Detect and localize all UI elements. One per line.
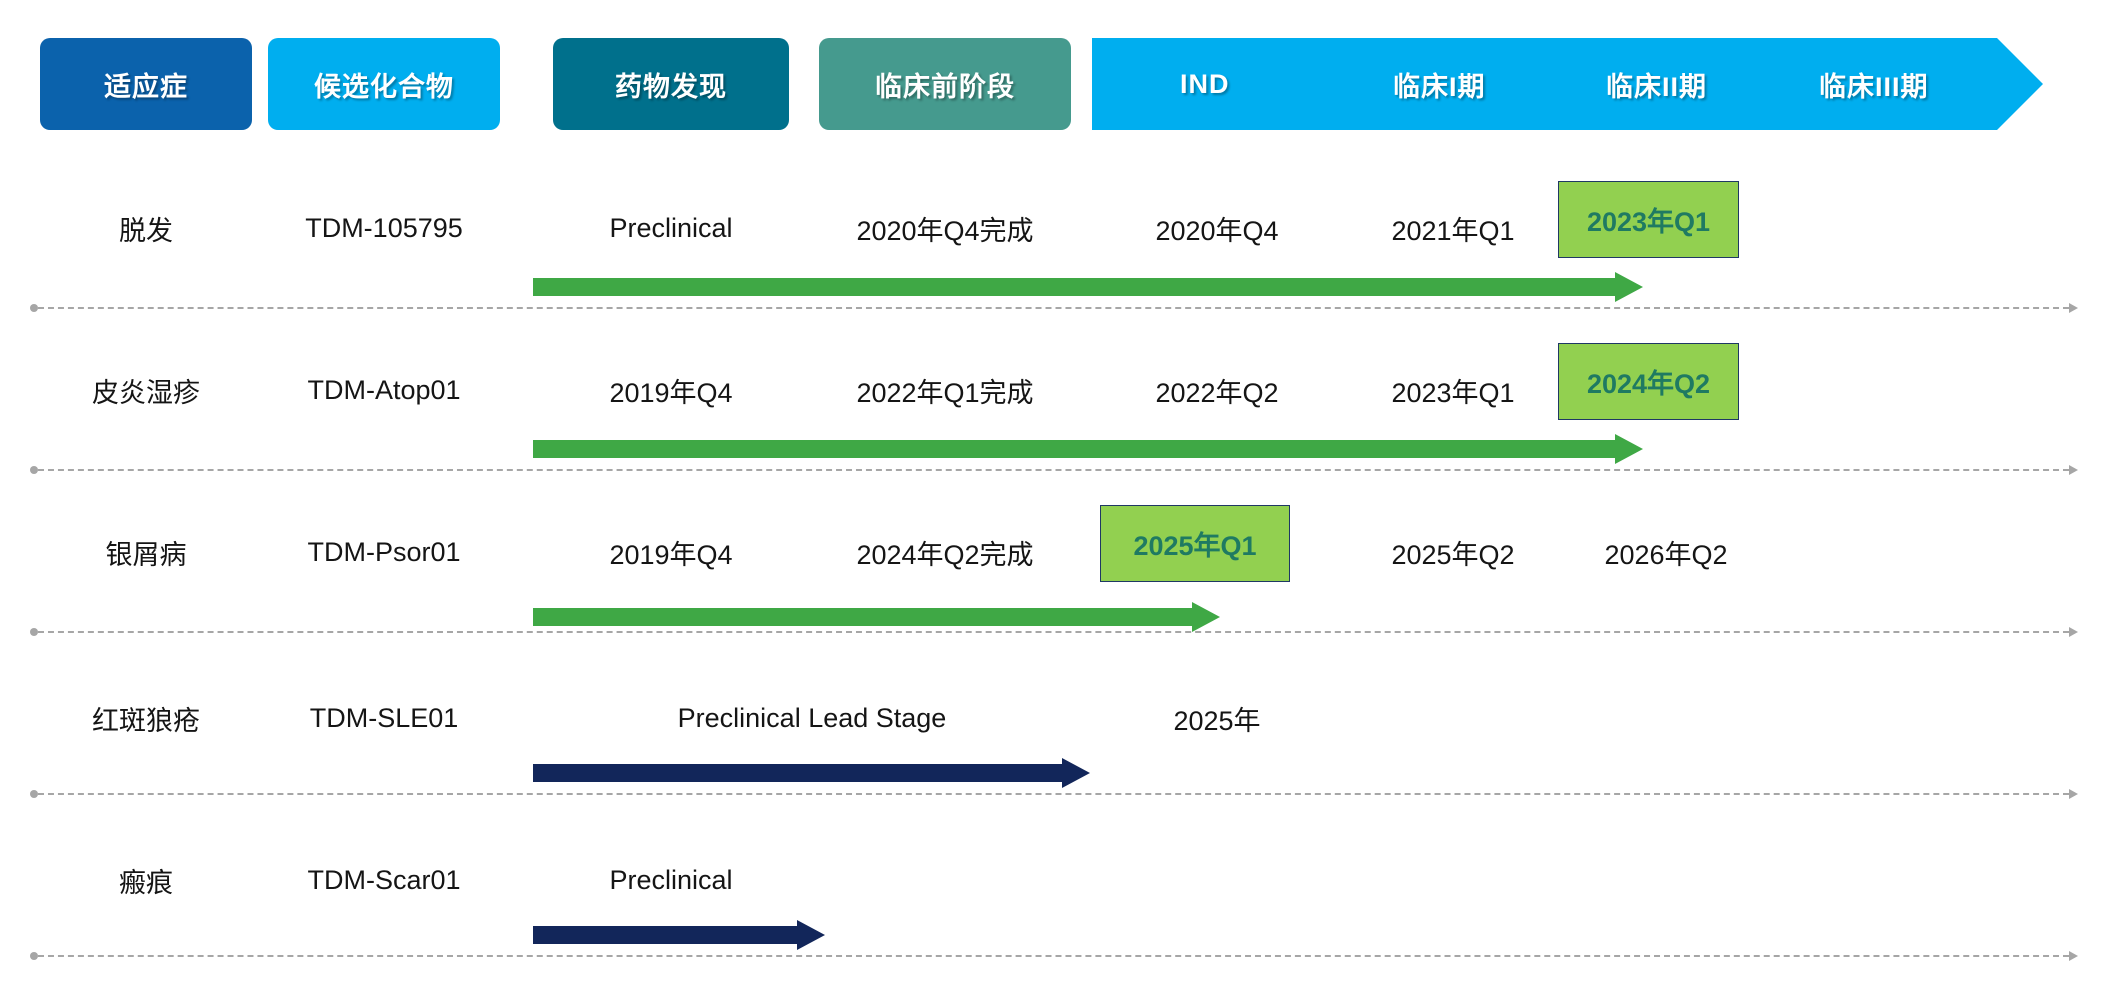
header-label: 药物发现 (615, 65, 727, 104)
row-5-discovery: Preclinical (553, 857, 789, 903)
separator-line (38, 631, 2069, 633)
separator-arrowhead (2069, 789, 2078, 799)
header-label: 临床III期 (1819, 65, 1929, 104)
row-2-separator (30, 465, 2078, 475)
row-4-progress-arrow (533, 758, 1090, 788)
row-5-separator (30, 951, 2078, 961)
header-label: 临床II期 (1606, 65, 1707, 104)
row-3-compound: TDM-Psor01 (268, 529, 500, 575)
row-4-separator (30, 789, 2078, 799)
header-label: 适应症 (104, 65, 188, 104)
separator-line (38, 469, 2069, 471)
row-2-preclinical: 2022年Q1完成 (819, 367, 1071, 413)
header-label: 临床I期 (1393, 65, 1486, 104)
row-4-ind: 2025年 (1092, 695, 1342, 741)
row-1-indication: 脱发 (40, 205, 252, 251)
separator-arrowhead (2069, 303, 2078, 313)
header-drug-discovery: 药物发现 (553, 38, 789, 130)
header-label: 临床前阶段 (875, 65, 1015, 104)
row-3-indication: 银屑病 (40, 529, 252, 575)
row-3-discovery: 2019年Q4 (553, 529, 789, 575)
separator-dot (30, 790, 38, 798)
row-4-indication: 红斑狼疮 (40, 695, 252, 741)
row-4-compound: TDM-SLE01 (268, 695, 500, 741)
row-5-progress-arrow (533, 920, 825, 950)
row-1-compound: TDM-105795 (268, 205, 500, 251)
row-3-phase-2: 2026年Q2 (1518, 529, 1814, 575)
separator-dot (30, 466, 38, 474)
separator-arrowhead (2069, 951, 2078, 961)
row-3-preclinical: 2024年Q2完成 (819, 529, 1071, 575)
header-label: 候选化合物 (314, 65, 454, 104)
separator-dot (30, 952, 38, 960)
row-2-compound: TDM-Atop01 (268, 367, 500, 413)
row-3-separator (30, 627, 2078, 637)
row-2-discovery: 2019年Q4 (553, 367, 789, 413)
row-2-progress-arrow (533, 434, 1643, 464)
row-3-ind-highlight: 2025年Q1 (1100, 505, 1290, 582)
row-1-preclinical: 2020年Q4完成 (819, 205, 1071, 251)
row-2-phase-2-highlight: 2024年Q2 (1558, 343, 1739, 420)
separator-dot (30, 304, 38, 312)
pipeline-chart: 适应症 候选化合物 药物发现 临床前阶段 IND 临床I期 临床II期 临床II… (0, 0, 2104, 990)
header-preclinical: 临床前阶段 (819, 38, 1071, 130)
row-1-separator (30, 303, 2078, 313)
row-4-discovery: Preclinical Lead Stage (553, 695, 1071, 741)
header-indication: 适应症 (40, 38, 252, 130)
separator-line (38, 955, 2069, 957)
separator-arrowhead (2069, 627, 2078, 637)
separator-line (38, 307, 2069, 309)
header-candidate-compound: 候选化合物 (268, 38, 500, 130)
row-2-indication: 皮炎湿疹 (40, 367, 252, 413)
row-1-discovery: Preclinical (553, 205, 789, 251)
row-5-indication: 瘢痕 (40, 857, 252, 903)
row-1-progress-arrow (533, 272, 1643, 302)
row-5-compound: TDM-Scar01 (268, 857, 500, 903)
header-phase-3: 临床III期 (1731, 38, 2043, 130)
separator-arrowhead (2069, 465, 2078, 475)
row-1-phase-2-highlight: 2023年Q1 (1558, 181, 1739, 258)
separator-line (38, 793, 2069, 795)
separator-dot (30, 628, 38, 636)
header-label: IND (1180, 69, 1230, 100)
row-2-phase-1: 2023年Q1 (1305, 367, 1601, 413)
row-1-phase-1: 2021年Q1 (1305, 205, 1601, 251)
